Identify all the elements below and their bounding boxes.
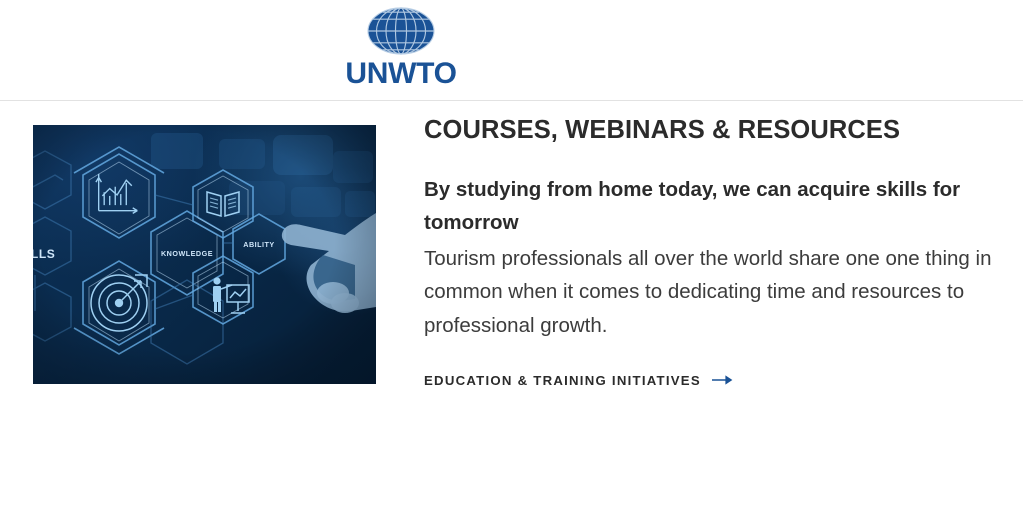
promo-image: ILLS [33,125,376,384]
globe-icon [365,6,437,56]
cta-label: EDUCATION & TRAINING INITIATIVES [424,373,701,388]
page-root: UNWTO [0,0,1023,506]
page-title: COURSES, WEBINARS & RESOURCES [424,115,1010,147]
site-header: UNWTO [0,0,1023,101]
promo-text-column: COURSES, WEBINARS & RESOURCES By studyin… [424,115,1010,390]
promo-section: ILLS [0,101,1023,506]
hexagon-skills-graphic: ILLS [33,125,376,384]
hexagon-network-illustration: ILLS [33,125,376,384]
promo-lede: By studying from home today, we can acqu… [424,173,1004,239]
logo-wordmark: UNWTO [345,59,456,89]
unwto-logo[interactable]: UNWTO [349,6,453,92]
arrow-right-icon [712,373,733,387]
education-training-initiatives-link[interactable]: EDUCATION & TRAINING INITIATIVES [424,373,733,388]
promo-body-text: Tourism professionals all over the world… [424,242,1006,342]
